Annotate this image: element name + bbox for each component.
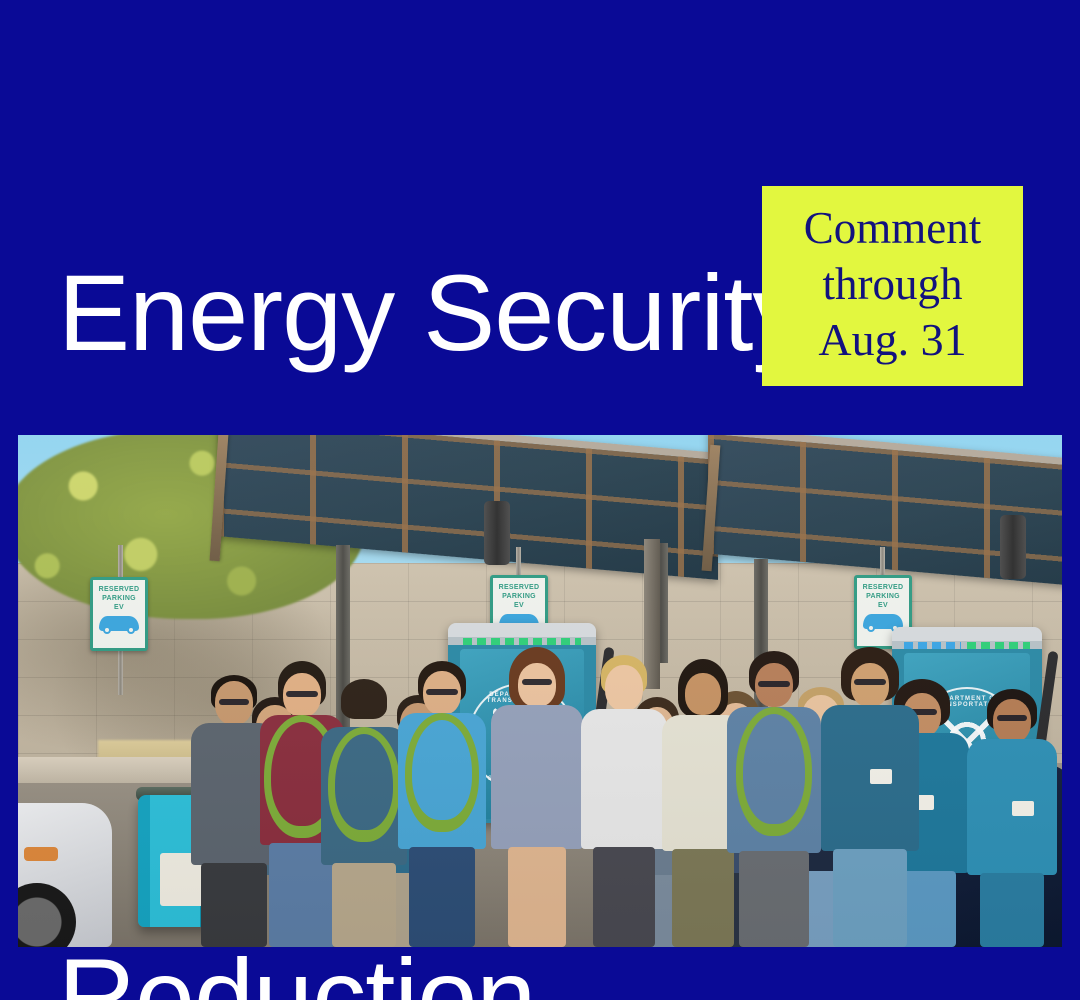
sunglasses-icon bbox=[997, 715, 1027, 721]
head bbox=[993, 699, 1031, 743]
badge-line-1: Comment bbox=[804, 200, 982, 256]
solar-panel-left bbox=[218, 435, 718, 580]
sign-line-3: EV bbox=[114, 603, 124, 612]
lei bbox=[405, 713, 479, 832]
eyeglasses-icon bbox=[758, 681, 790, 687]
crowd-group bbox=[18, 617, 1062, 947]
comment-deadline-badge: Comment through Aug. 31 bbox=[762, 186, 1023, 386]
page-title-line-3: Reduction bbox=[58, 940, 758, 1000]
person bbox=[578, 655, 670, 947]
legs bbox=[980, 873, 1044, 947]
eyeglasses-icon bbox=[286, 691, 318, 697]
torso bbox=[581, 709, 667, 849]
legs bbox=[508, 847, 566, 947]
person bbox=[964, 689, 1060, 947]
name-tag bbox=[1012, 801, 1034, 816]
person bbox=[488, 647, 586, 947]
badge-line-3: Aug. 31 bbox=[818, 312, 966, 368]
sign-line-1: RESERVED bbox=[99, 585, 140, 594]
solar-panel-grid bbox=[218, 435, 718, 580]
person bbox=[394, 661, 490, 947]
legs bbox=[332, 863, 396, 947]
person bbox=[818, 647, 922, 947]
sign-line-2: PARKING bbox=[502, 592, 536, 601]
sign-line-3: EV bbox=[878, 601, 888, 610]
event-photo: RESERVED PARKING EV RESERVED PARKING EV … bbox=[18, 435, 1062, 947]
poster-canvas: Energy Security & Waste Reduction Commen… bbox=[0, 0, 1080, 1000]
head bbox=[605, 665, 643, 711]
eyeglasses-icon bbox=[426, 689, 458, 695]
sign-line-1: RESERVED bbox=[499, 583, 540, 592]
lei bbox=[328, 727, 400, 842]
head bbox=[346, 687, 382, 729]
eyeglasses-icon bbox=[854, 679, 886, 685]
lei bbox=[736, 707, 812, 836]
sign-line-1: RESERVED bbox=[863, 583, 904, 592]
legs bbox=[593, 847, 655, 947]
sunglasses-icon bbox=[522, 679, 552, 685]
torso bbox=[491, 705, 583, 849]
page-title-line-1: Energy Security bbox=[58, 256, 758, 370]
head bbox=[518, 663, 556, 707]
legs bbox=[833, 849, 907, 947]
sign-line-3: EV bbox=[514, 601, 524, 610]
canopy-light-left bbox=[484, 501, 510, 565]
person bbox=[724, 651, 824, 947]
legs bbox=[409, 847, 475, 947]
eyeglasses-icon bbox=[219, 699, 249, 705]
badge-line-2: through bbox=[823, 256, 963, 312]
canopy-light-right bbox=[1000, 515, 1026, 579]
head bbox=[851, 663, 889, 707]
sign-line-2: PARKING bbox=[102, 594, 136, 603]
sign-line-2: PARKING bbox=[866, 592, 900, 601]
name-tag bbox=[870, 769, 892, 784]
head bbox=[685, 673, 721, 715]
legs bbox=[739, 851, 809, 947]
